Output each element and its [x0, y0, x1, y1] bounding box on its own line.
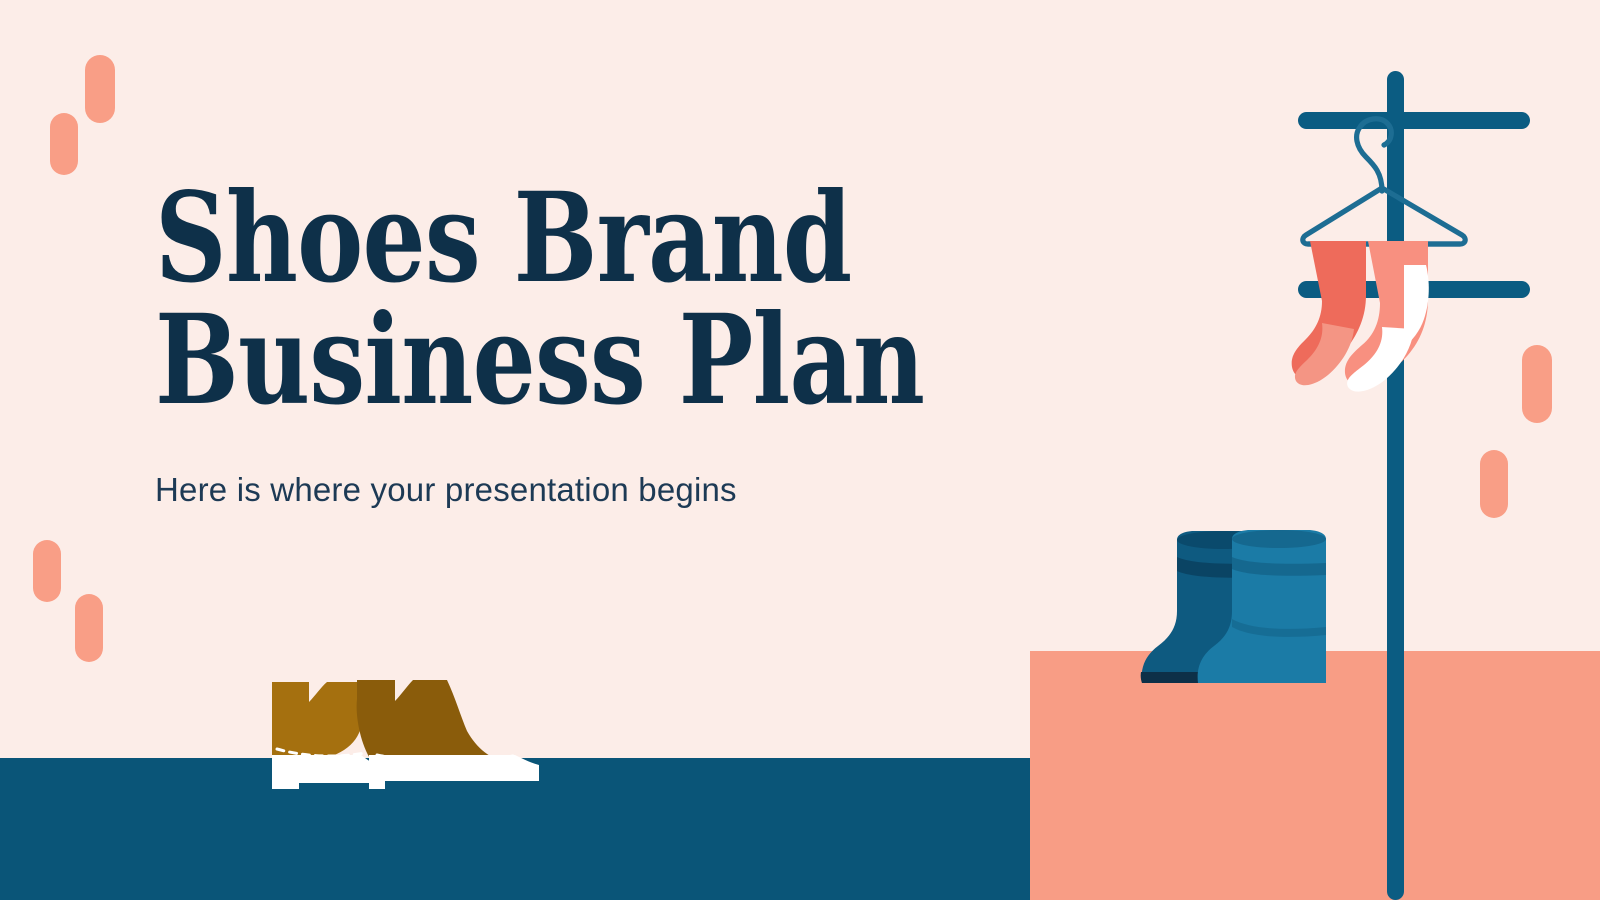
pill-mid-left-b	[75, 594, 103, 662]
page-title: Shoes Brand Business Plan	[155, 178, 955, 421]
pill-right-a	[1522, 345, 1552, 423]
coral-podium-block	[1030, 651, 1600, 900]
back-boot-rim	[1177, 531, 1269, 549]
back-shoe-stitching	[277, 749, 365, 756]
upper-crossbar	[1298, 112, 1530, 129]
sock-front-heel-white	[1404, 265, 1429, 347]
hanger-hook	[1357, 119, 1392, 191]
hanger-body	[1303, 188, 1465, 244]
back-boot-cuff-shadow	[1177, 557, 1270, 578]
presentation-slide: Shoes Brand Business Plan Here is where …	[0, 0, 1600, 900]
sock-front-toe	[1347, 327, 1414, 392]
front-boot-crease	[1232, 619, 1326, 637]
page-subtitle: Here is where your presentation begins	[155, 471, 737, 509]
back-shoe-upper	[272, 682, 364, 763]
front-shoe-upper	[357, 680, 507, 763]
pill-right-b	[1480, 450, 1508, 518]
front-boot-rim	[1232, 530, 1326, 548]
sock-back	[1292, 241, 1366, 379]
front-boot-cuff-shadow	[1232, 557, 1326, 576]
pill-mid-left-a	[33, 540, 61, 602]
pill-top-left-b	[50, 113, 78, 175]
pill-top-left-a	[85, 55, 115, 123]
sock-front	[1345, 241, 1428, 386]
sock-back-toe	[1295, 323, 1354, 385]
lower-crossbar	[1298, 281, 1530, 298]
